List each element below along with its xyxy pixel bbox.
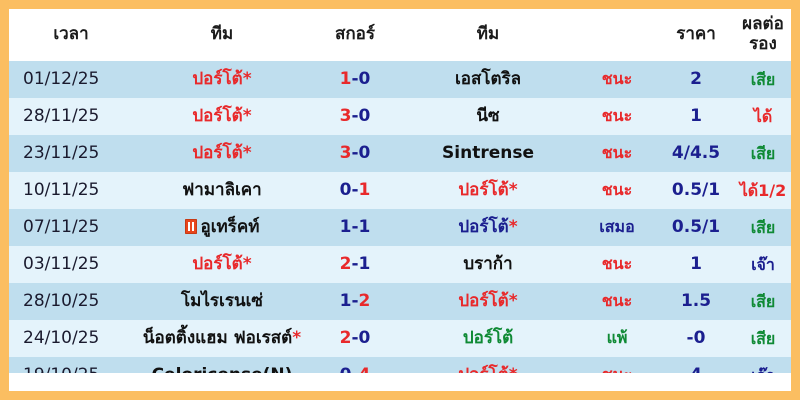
home-team-star: * [243,106,252,126]
handicap-outcome: เสีย [735,320,791,357]
score-home: 1 [340,217,352,237]
home-team-name: ปอร์โต้ [192,106,242,126]
away-team-name: ปอร์โต้ [458,217,508,237]
away-team-cell[interactable]: ปอร์โต้* [399,283,577,320]
match-date: 23/11/25 [9,135,133,172]
match-result-badge: ชนะ [577,135,657,172]
table-row[interactable]: 28/10/25โมไรเรนเซ่1-2ปอร์โต้*ชนะ1.5เสีย [9,283,791,320]
away-team-name: เอสโตริล [455,69,521,89]
handicap-outcome: เสีย [735,209,791,246]
odds-value: 0.5/1 [657,209,735,246]
score-separator: - [351,106,358,126]
match-score: 1-0 [311,61,399,98]
match-score: 2-0 [311,320,399,357]
table-row[interactable]: 03/11/25ปอร์โต้*2-1บราก้าชนะ1เจ๊า [9,246,791,283]
table-row[interactable]: 23/11/25ปอร์โต้*3-0Sintrenseชนะ4/4.5เสีย [9,135,791,172]
home-team-name: น็อตติ้งแฮม ฟอเรสต์ [143,328,292,348]
odds-value: 2 [657,61,735,98]
match-score: 1-1 [311,209,399,246]
score-away: 0 [359,106,371,126]
handicap-outcome: เสีย [735,135,791,172]
away-team-cell[interactable]: Sintrense [399,135,577,172]
bottom-spacer [9,373,791,391]
away-team-cell[interactable]: นีซ [399,98,577,135]
column-header-handicap: ผลต่อรอง [735,9,791,61]
column-header-score: สกอร์ [311,9,399,61]
score-home: 2 [340,328,352,348]
away-team-name: Sintrense [442,143,534,163]
match-score: 1-2 [311,283,399,320]
handicap-outcome: เจ๊า [735,246,791,283]
match-results-panel: เวลา ทีม สกอร์ ทีม ราคา ผลต่อรอง 01/12/2… [0,0,800,400]
home-team-star: * [243,143,252,163]
match-date: 24/10/25 [9,320,133,357]
home-team-name: อูเทร็คท์ [201,217,260,237]
match-date: 28/11/25 [9,98,133,135]
home-team-name: ปอร์โต้ [192,69,242,89]
handicap-outcome: เสีย [735,61,791,98]
score-away: 1 [359,217,371,237]
score-home: 1 [340,69,352,89]
table-row[interactable]: 28/11/25ปอร์โต้*3-0นีซชนะ1ได้ [9,98,791,135]
away-team-cell[interactable]: เอสโตริล [399,61,577,98]
match-date: 10/11/25 [9,172,133,209]
column-header-result [577,9,657,61]
match-date: 07/11/25 [9,209,133,246]
odds-value: 1 [657,98,735,135]
match-score: 2-1 [311,246,399,283]
match-result-badge: ชนะ [577,61,657,98]
score-separator: - [351,254,358,274]
match-score: 0-1 [311,172,399,209]
handicap-outcome: เสีย [735,283,791,320]
away-team-star: * [509,291,518,311]
score-away: 1 [359,180,371,200]
match-result-badge: ชนะ [577,172,657,209]
away-team-star: * [509,180,518,200]
away-team-star: * [509,217,518,237]
home-team-name: ปอร์โต้ [192,254,242,274]
score-separator: - [351,69,358,89]
score-separator: - [351,217,358,237]
red-card-icon [185,219,197,234]
odds-value: 1.5 [657,283,735,320]
away-team-name: ปอร์โต้ [458,291,508,311]
table-row[interactable]: 24/10/25น็อตติ้งแฮม ฟอเรสต์*2-0ปอร์โต้แพ… [9,320,791,357]
away-team-name: ปอร์โต้ [458,180,508,200]
odds-value: 4/4.5 [657,135,735,172]
away-team-name: ปอร์โต้ [463,328,513,348]
odds-value: 1 [657,246,735,283]
match-result-badge: ชนะ [577,246,657,283]
away-team-name: บราก้า [463,254,512,274]
score-away: 2 [359,291,371,311]
match-result-badge: ชนะ [577,283,657,320]
match-score: 3-0 [311,135,399,172]
home-team-star: * [292,328,301,348]
table-row[interactable]: 07/11/25อูเทร็คท์1-1ปอร์โต้*เสมอ0.5/1เสี… [9,209,791,246]
away-team-cell[interactable]: ปอร์โต้ [399,320,577,357]
home-team-cell[interactable]: อูเทร็คท์ [133,209,311,246]
score-home: 1 [340,291,352,311]
match-date: 03/11/25 [9,246,133,283]
column-header-date: เวลา [9,9,133,61]
table-row[interactable]: 10/11/25ฟามาลิเคา0-1ปอร์โต้*ชนะ0.5/1ได้1… [9,172,791,209]
odds-value: 0.5/1 [657,172,735,209]
home-team-cell[interactable]: ปอร์โต้* [133,98,311,135]
home-team-cell[interactable]: น็อตติ้งแฮม ฟอเรสต์* [133,320,311,357]
column-header-odds: ราคา [657,9,735,61]
home-team-name: ปอร์โต้ [192,143,242,163]
handicap-outcome: ได้1/2 [735,172,791,209]
home-team-cell[interactable]: โมไรเรนเซ่ [133,283,311,320]
score-separator: - [351,328,358,348]
table-row[interactable]: 01/12/25ปอร์โต้*1-0เอสโตริลชนะ2เสีย [9,61,791,98]
home-team-name: ฟามาลิเคา [182,180,261,200]
away-team-cell[interactable]: ปอร์โต้* [399,172,577,209]
away-team-cell[interactable]: ปอร์โต้* [399,209,577,246]
column-header-team1: ทีม [133,9,311,61]
home-team-cell[interactable]: ปอร์โต้* [133,246,311,283]
match-results-table: เวลา ทีม สกอร์ ทีม ราคา ผลต่อรอง 01/12/2… [9,9,791,394]
score-away: 0 [359,143,371,163]
handicap-outcome: ได้ [735,98,791,135]
match-result-badge: เสมอ [577,209,657,246]
table-body: 01/12/25ปอร์โต้*1-0เอสโตริลชนะ2เสีย28/11… [9,61,791,394]
match-result-badge: ชนะ [577,98,657,135]
score-separator: - [351,291,358,311]
odds-value: -0 [657,320,735,357]
score-separator: - [351,143,358,163]
away-team-cell[interactable]: บราก้า [399,246,577,283]
match-result-badge: แพ้ [577,320,657,357]
score-home: 3 [340,143,352,163]
match-date: 01/12/25 [9,61,133,98]
home-team-name: โมไรเรนเซ่ [181,291,263,311]
score-home: 0 [340,180,352,200]
column-header-team2: ทีม [399,9,577,61]
score-home: 3 [340,106,352,126]
home-team-star: * [243,69,252,89]
away-team-name: นีซ [476,106,499,126]
home-team-cell[interactable]: ปอร์โต้* [133,61,311,98]
score-away: 0 [359,69,371,89]
score-away: 1 [359,254,371,274]
score-away: 0 [359,328,371,348]
score-separator: - [351,180,358,200]
score-home: 2 [340,254,352,274]
home-team-cell[interactable]: ฟามาลิเคา [133,172,311,209]
home-team-cell[interactable]: ปอร์โต้* [133,135,311,172]
table-header: เวลา ทีม สกอร์ ทีม ราคา ผลต่อรอง [9,9,791,61]
match-score: 3-0 [311,98,399,135]
match-date: 28/10/25 [9,283,133,320]
header-row: เวลา ทีม สกอร์ ทีม ราคา ผลต่อรอง [9,9,791,61]
home-team-star: * [243,254,252,274]
